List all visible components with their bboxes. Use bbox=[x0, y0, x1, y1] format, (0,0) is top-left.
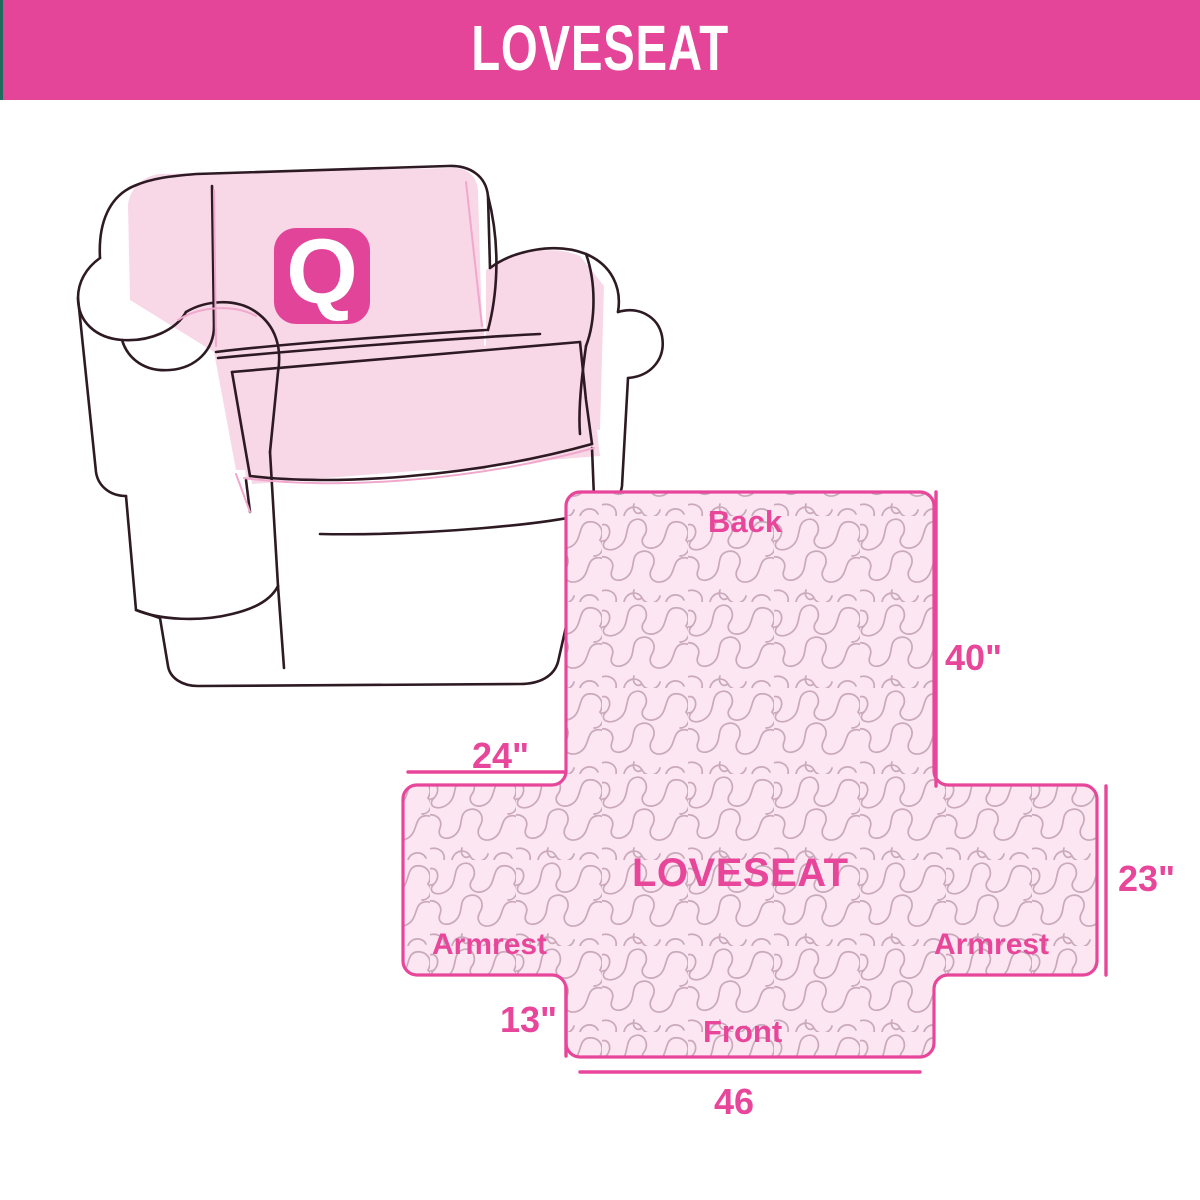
page-title: LOVESEAT bbox=[471, 16, 729, 84]
brand-logo: Q bbox=[274, 221, 370, 324]
dimension-front-height: 13" bbox=[500, 1002, 557, 1038]
dimension-back-height: 40" bbox=[945, 640, 1002, 676]
artwork-layer: Q bbox=[0, 0, 1200, 1200]
dimension-armrest-width: 24" bbox=[472, 738, 529, 774]
page-root: LOVESEAT bbox=[0, 0, 1200, 1200]
header-edge-accent bbox=[0, 0, 3, 100]
panel-label-back: Back bbox=[708, 506, 782, 537]
dimension-front-width: 46 bbox=[714, 1084, 754, 1120]
panel-label-front: Front bbox=[703, 1016, 782, 1047]
dimension-lines bbox=[408, 492, 1106, 1072]
dimension-armrest-height: 23" bbox=[1118, 861, 1175, 897]
panel-label-armrest-right: Armrest bbox=[934, 930, 1049, 960]
page-header: LOVESEAT bbox=[0, 0, 1200, 100]
panel-label-center: LOVESEAT bbox=[632, 853, 849, 893]
loveseat-illustration: Q bbox=[78, 166, 663, 686]
svg-text:Q: Q bbox=[286, 221, 358, 323]
panel-label-armrest-left: Armrest bbox=[432, 930, 547, 960]
